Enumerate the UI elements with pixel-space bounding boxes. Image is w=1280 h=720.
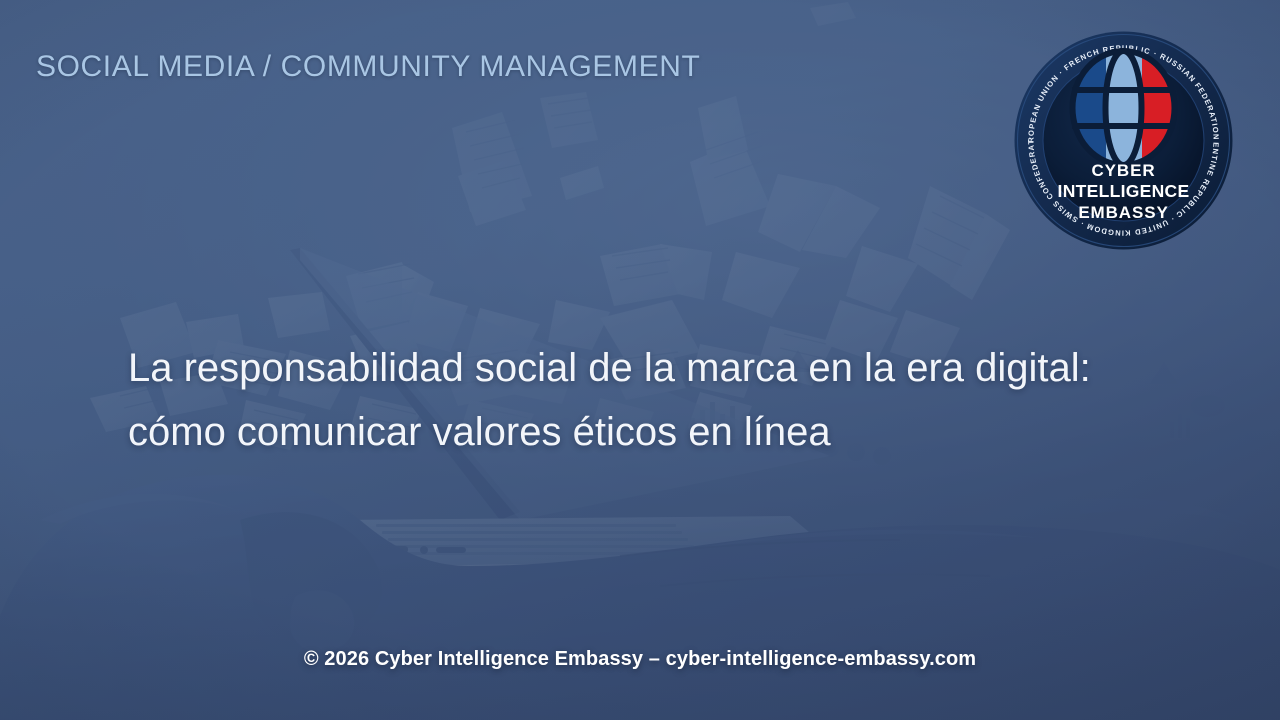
- badge-wordmark-line-1: CYBER: [1014, 160, 1233, 181]
- page-title: La responsabilidad social de la marca en…: [128, 336, 1188, 464]
- badge-wordmark-line-3: EMBASSY: [1014, 202, 1233, 223]
- cyber-intelligence-embassy-logo[interactable]: UNITED STATES OF AMERICA · EUROPEAN UNIO…: [1014, 31, 1233, 250]
- footer-copyright: © 2026 Cyber Intelligence Embassy – cybe…: [0, 648, 1280, 671]
- category-eyebrow-label: SOCIAL MEDIA / COMMUNITY MANAGEMENT: [36, 50, 700, 84]
- social-media-banner: SOCIAL MEDIA / COMMUNITY MANAGEMENT La r…: [0, 0, 1280, 720]
- badge-wordmark: CYBER INTELLIGENCE EMBASSY: [1014, 160, 1233, 223]
- headline-line-1: La responsabilidad social de la marca en…: [128, 336, 1188, 400]
- headline-line-2: cómo comunicar valores éticos en línea: [128, 400, 1188, 464]
- badge-wordmark-line-2: INTELLIGENCE: [1014, 181, 1233, 202]
